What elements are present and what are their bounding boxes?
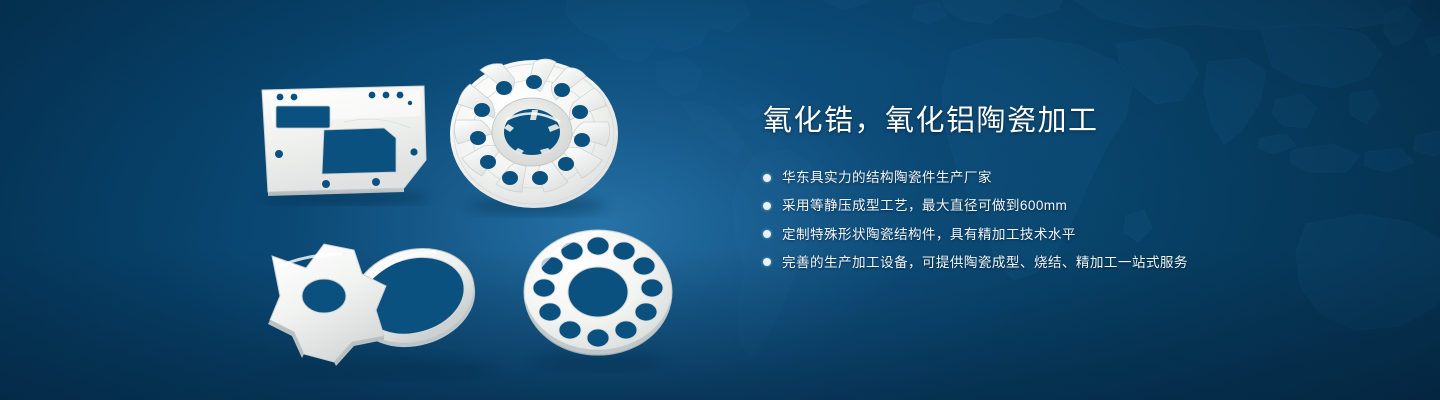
feature-item: 定制特殊形状陶瓷结构件，具有精加工技术水平	[763, 224, 1383, 245]
ceramic-star-plate-and-ring	[252, 222, 514, 382]
bullet-dot-icon	[763, 230, 771, 238]
feature-item-label: 华东具实力的结构陶瓷件生产厂家	[782, 167, 992, 188]
feature-item-label: 定制特殊形状陶瓷结构件，具有精加工技术水平	[782, 224, 1076, 245]
feature-item-label: 采用等静压成型工艺，最大直径可做到600mm	[782, 195, 1067, 216]
bullet-dot-icon	[763, 202, 771, 210]
bullet-dot-icon	[763, 174, 771, 182]
banner-copy: 氧化锆，氧化铝陶瓷加工 华东具实力的结构陶瓷件生产厂家 采用等静压成型工艺，最大…	[763, 104, 1383, 280]
promo-banner: 氧化锆，氧化铝陶瓷加工 华东具实力的结构陶瓷件生产厂家 采用等静压成型工艺，最大…	[0, 0, 1440, 400]
ceramic-impeller-disc	[444, 48, 628, 218]
feature-item: 完善的生产加工设备，可提供陶瓷成型、烧结、精加工一站式服务	[763, 252, 1383, 273]
product-photo-group	[0, 0, 720, 400]
feature-list: 华东具实力的结构陶瓷件生产厂家 采用等静压成型工艺，最大直径可做到600mm 定…	[763, 167, 1383, 272]
ceramic-machined-plate	[248, 76, 438, 206]
feature-item: 采用等静压成型工艺，最大直径可做到600mm	[763, 195, 1383, 216]
bullet-dot-icon	[763, 258, 771, 266]
feature-item-label: 完善的生产加工设备，可提供陶瓷成型、烧结、精加工一站式服务	[782, 252, 1188, 273]
ceramic-perforated-ring	[518, 224, 682, 374]
banner-headline: 氧化锆，氧化铝陶瓷加工	[763, 104, 1383, 139]
feature-item: 华东具实力的结构陶瓷件生产厂家	[763, 167, 1383, 188]
